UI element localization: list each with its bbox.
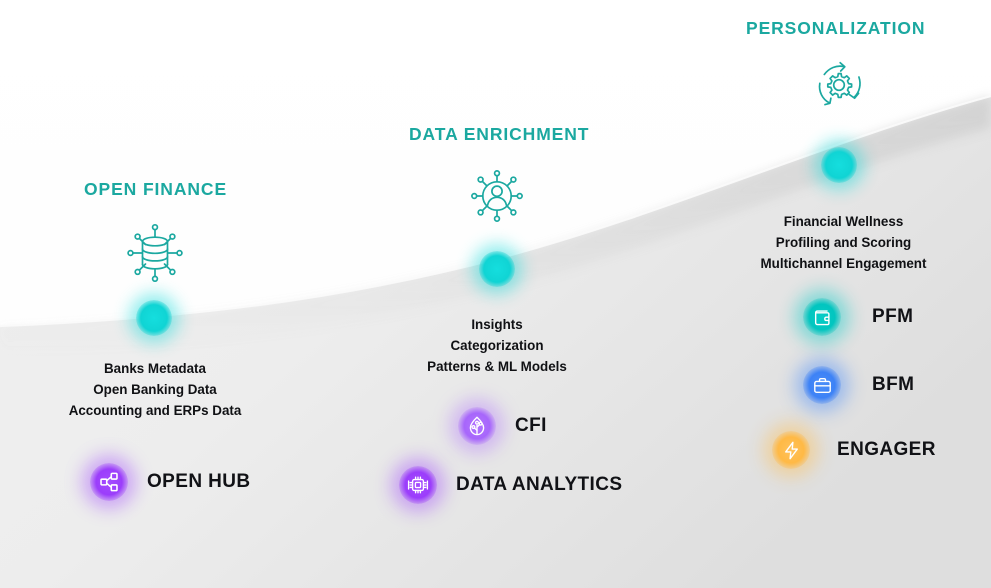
timeline-node-personalization [821, 147, 857, 183]
description-data-enrichment: Insights Categorization Patterns & ML Mo… [347, 314, 647, 377]
description-line: Multichannel Engagement [691, 253, 991, 274]
product-data-analytics[interactable]: DATA ANALYTICS [399, 466, 622, 504]
description-personalization: Financial Wellness Profiling and Scoring… [691, 211, 991, 274]
product-cfi[interactable]: CFI [458, 407, 547, 445]
section-heading-data-enrichment: DATA ENRICHMENT [409, 124, 589, 145]
description-line: Banks Metadata [0, 358, 310, 379]
user-network-icon [464, 163, 530, 229]
product-bfm[interactable]: BFM [803, 366, 914, 404]
product-label: CFI [515, 415, 547, 437]
timeline-node-data-enrichment [479, 251, 515, 287]
wallet-icon [803, 298, 841, 336]
lightning-bolt-icon [772, 431, 810, 469]
description-line: Open Banking Data [0, 379, 310, 400]
product-pfm[interactable]: PFM [803, 298, 913, 336]
briefcase-icon [803, 366, 841, 404]
gear-refresh-icon [806, 52, 872, 118]
product-label: OPEN HUB [147, 471, 251, 493]
product-engager[interactable]: ENGAGER [772, 431, 936, 469]
timeline-node-open-finance [136, 300, 172, 336]
description-line: Accounting and ERPs Data [0, 400, 310, 421]
description-line: Profiling and Scoring [691, 232, 991, 253]
leaf-circuit-icon [458, 407, 496, 445]
description-open-finance: Banks Metadata Open Banking Data Account… [0, 358, 310, 421]
product-label: DATA ANALYTICS [456, 474, 622, 496]
product-open-hub[interactable]: OPEN HUB [90, 463, 251, 501]
product-label: ENGAGER [837, 439, 936, 461]
description-line: Financial Wellness [691, 211, 991, 232]
description-line: Insights [347, 314, 647, 335]
share-nodes-icon [90, 463, 128, 501]
product-label: BFM [872, 374, 914, 396]
ai-chip-icon [399, 466, 437, 504]
infographic-canvas: OPEN FINANCE Banks Metadata Open Banking… [0, 0, 991, 588]
product-label: PFM [872, 306, 913, 328]
section-heading-open-finance: OPEN FINANCE [84, 179, 227, 200]
description-line: Patterns & ML Models [347, 356, 647, 377]
section-heading-personalization: PERSONALIZATION [746, 18, 925, 39]
description-line: Categorization [347, 335, 647, 356]
database-network-icon [122, 220, 188, 286]
